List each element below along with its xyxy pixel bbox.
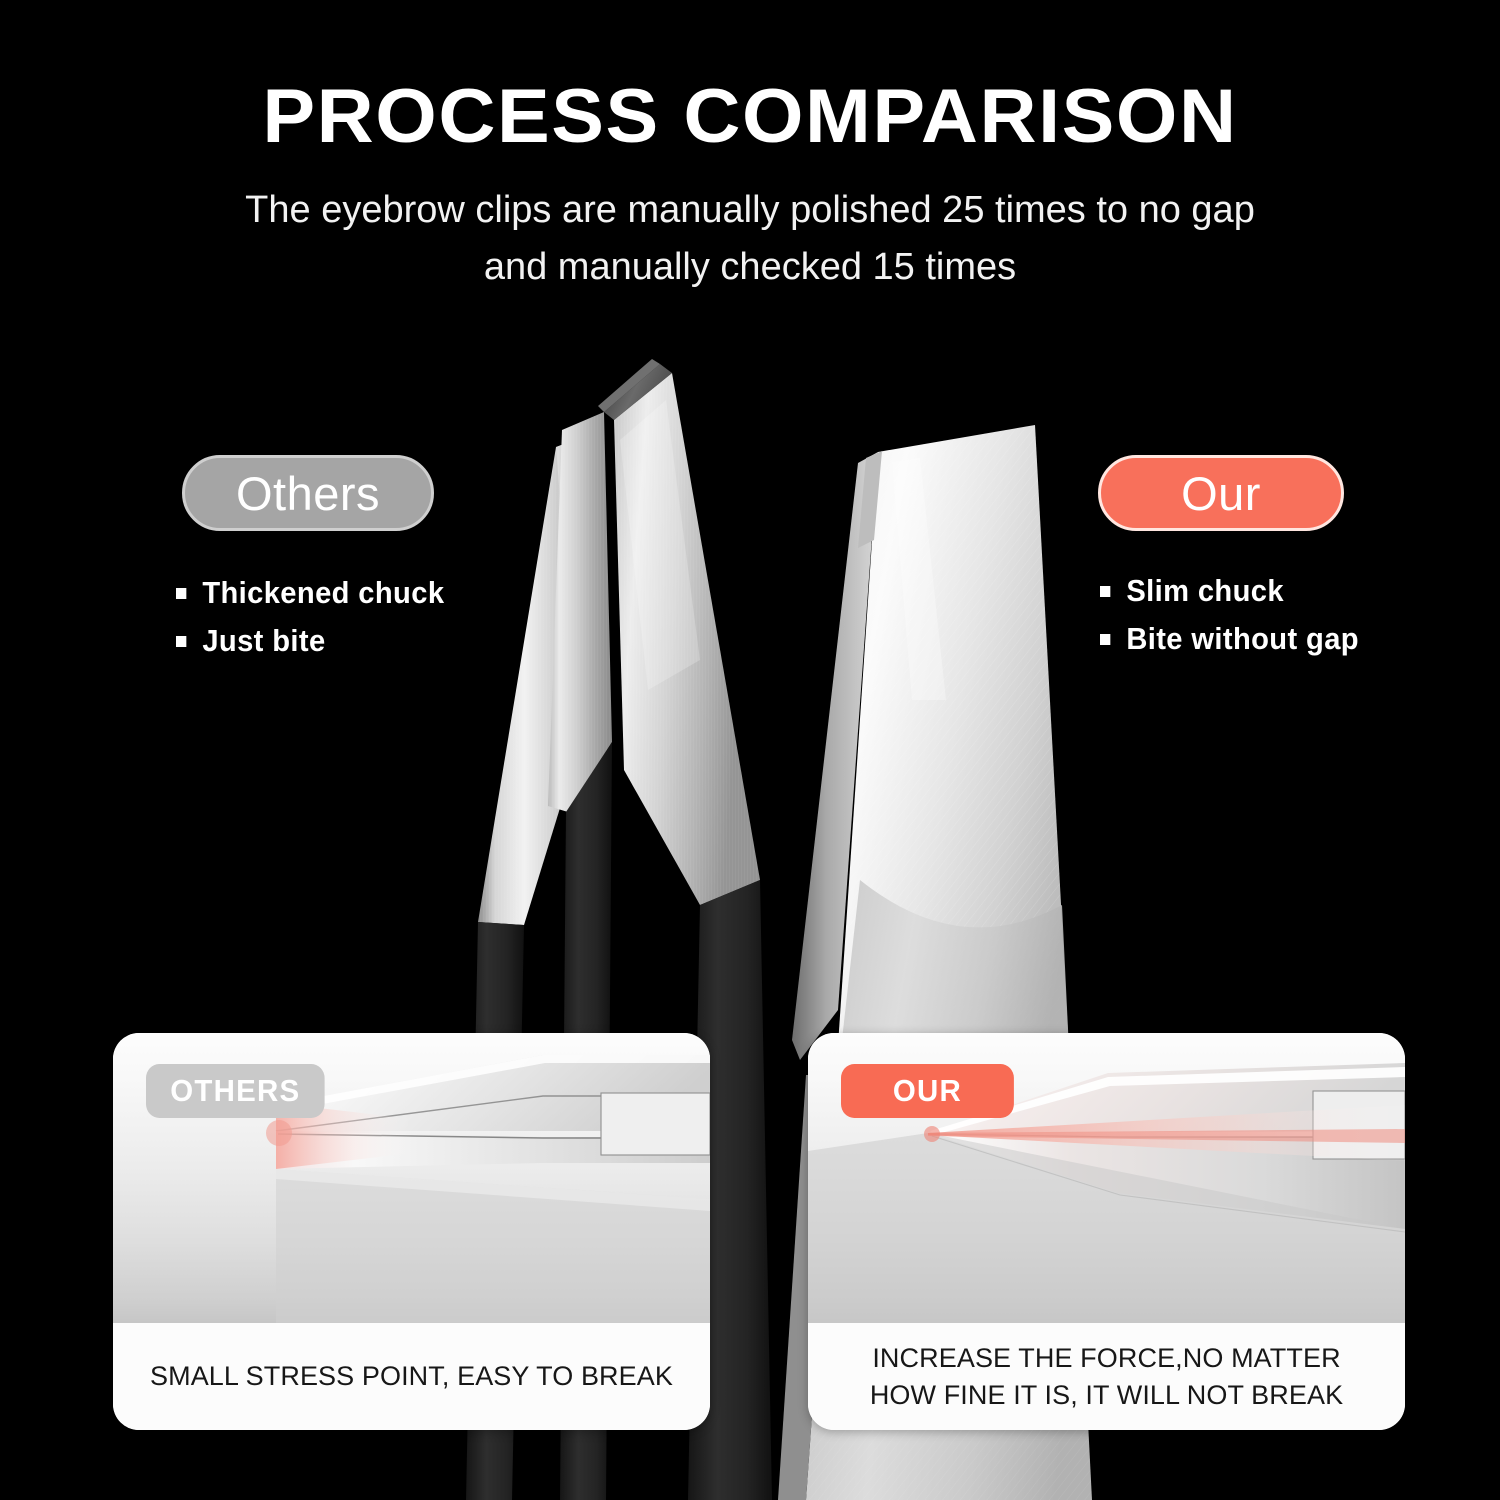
our-tip-figure: OUR bbox=[808, 1033, 1405, 1323]
others-detail-card: OTHERS SMALL STRESS POINT, EASY TO BREAK bbox=[113, 1033, 710, 1430]
header: PROCESS COMPARISON The eyebrow clips are… bbox=[0, 0, 1500, 297]
our-caption-line-2: HOW FINE IT IS, IT WILL NOT BREAK bbox=[870, 1380, 1343, 1410]
list-item: Just bite bbox=[176, 620, 444, 661]
badge-others: Others bbox=[182, 455, 434, 531]
list-item-label: Thickened chuck bbox=[202, 572, 444, 613]
card-pill-others-label: OTHERS bbox=[170, 1073, 300, 1109]
others-card-footer: SMALL STRESS POINT, EASY TO BREAK bbox=[113, 1323, 710, 1430]
page-title: PROCESS COMPARISON bbox=[0, 0, 1500, 156]
list-item: Slim chuck bbox=[1100, 570, 1359, 611]
subtitle-line-1: The eyebrow clips are manually polished … bbox=[245, 189, 1255, 231]
infographic-canvas: PROCESS COMPARISON The eyebrow clips are… bbox=[0, 0, 1500, 1500]
page-subtitle: The eyebrow clips are manually polished … bbox=[0, 156, 1500, 298]
square-bullet-icon bbox=[1100, 586, 1110, 597]
list-item-label: Slim chuck bbox=[1126, 570, 1284, 611]
square-bullet-icon bbox=[1100, 634, 1110, 645]
our-card-caption: INCREASE THE FORCE,NO MATTER HOW FINE IT… bbox=[870, 1340, 1343, 1412]
list-item-label: Bite without gap bbox=[1126, 618, 1359, 659]
subtitle-line-2: and manually checked 15 times bbox=[484, 246, 1016, 288]
square-bullet-icon bbox=[176, 636, 186, 647]
list-item-label: Just bite bbox=[202, 620, 325, 661]
badge-our-label: Our bbox=[1181, 466, 1261, 521]
our-caption-line-1: INCREASE THE FORCE,NO MATTER bbox=[872, 1343, 1340, 1373]
our-detail-card: OUR INCREASE THE FORCE,NO MATTER HOW FIN… bbox=[808, 1033, 1405, 1430]
card-pill-our-label: OUR bbox=[893, 1073, 962, 1109]
badge-our: Our bbox=[1098, 455, 1344, 531]
others-tip-figure: OTHERS bbox=[113, 1033, 710, 1323]
card-pill-our: OUR bbox=[841, 1064, 1014, 1118]
badge-others-label: Others bbox=[236, 466, 380, 521]
others-card-caption: SMALL STRESS POINT, EASY TO BREAK bbox=[150, 1358, 673, 1394]
our-feature-list: Slim chuck Bite without gap bbox=[1100, 570, 1359, 666]
our-card-footer: INCREASE THE FORCE,NO MATTER HOW FINE IT… bbox=[808, 1323, 1405, 1430]
others-feature-list: Thickened chuck Just bite bbox=[176, 572, 444, 668]
list-item: Bite without gap bbox=[1100, 618, 1359, 659]
square-bullet-icon bbox=[176, 588, 186, 599]
card-pill-others: OTHERS bbox=[146, 1064, 325, 1118]
list-item: Thickened chuck bbox=[176, 572, 444, 613]
left-tweezer-front-prong bbox=[598, 359, 760, 905]
